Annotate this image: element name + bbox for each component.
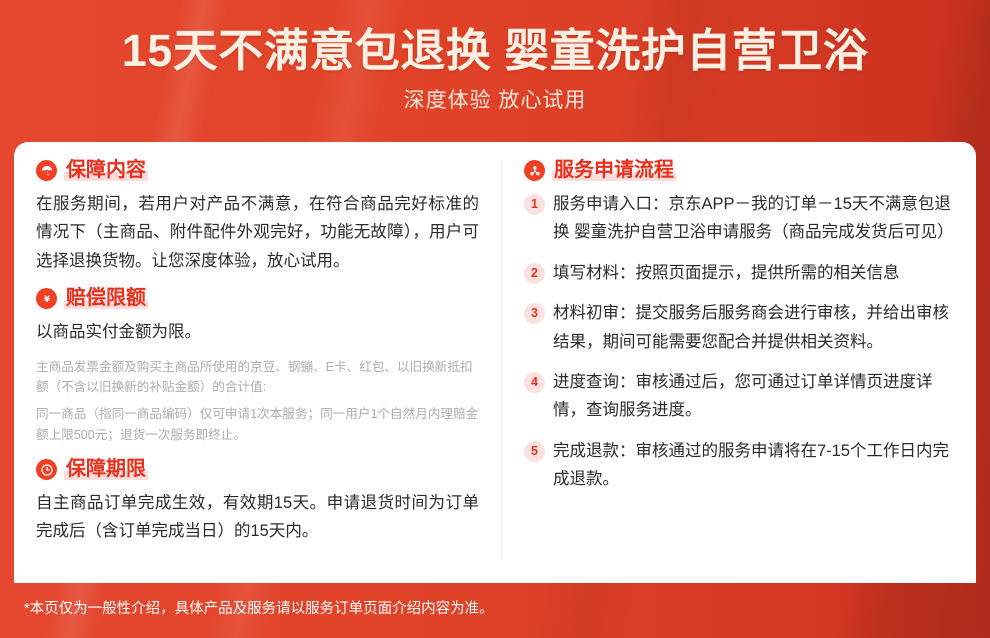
section-title: 服务申请流程 bbox=[552, 160, 676, 181]
step-text: 填写材料：按照页面提示，提供所需的相关信息 bbox=[553, 259, 960, 287]
step-text: 材料初审：提交服务后服务商会进行审核，并给出审核结果，期间可能需要您配合并提供相… bbox=[553, 299, 960, 356]
step-number-badge: 2 bbox=[524, 263, 545, 284]
section-title: 赔偿限额 bbox=[64, 288, 148, 309]
umbrella-icon bbox=[36, 160, 57, 181]
step-text: 进度查询：审核通过后，您可通过订单详情页进度详情，查询服务进度。 bbox=[553, 368, 960, 425]
process-step: 5 完成退款：审核通过的服务申请将在7-15个工作日内完成退款。 bbox=[524, 437, 960, 494]
compensation-paragraph: 以商品实付金额为限。 bbox=[36, 318, 479, 346]
step-number-badge: 5 bbox=[524, 441, 545, 462]
section-title-wrap: 赔偿限额 bbox=[64, 288, 148, 309]
step-text: 完成退款：审核通过的服务申请将在7-15个工作日内完成退款。 bbox=[553, 437, 960, 494]
clock-icon bbox=[36, 459, 57, 480]
section-title: 保障期限 bbox=[64, 459, 148, 480]
step-number-badge: 1 bbox=[524, 194, 545, 215]
section-title: 保障内容 bbox=[64, 160, 148, 181]
section-title-wrap: 保障期限 bbox=[64, 459, 148, 480]
page-subtitle: 深度体验 放心试用 bbox=[0, 77, 990, 113]
period-paragraph: 自主商品订单完成生效，有效期15天。申请退货时间为订单完成后（含订单完成当日）的… bbox=[36, 489, 479, 546]
section-heading-coverage: 保障内容 bbox=[36, 160, 479, 181]
banner-header: 15天不满意包退换 婴童洗护自营卫浴 深度体验 放心试用 bbox=[0, 0, 990, 142]
compensation-fineprint-1: 主商品发票金额及购买主商品所使用的京豆、钢镚、E卡、红包、以旧换新抵扣额（不含以… bbox=[36, 357, 479, 398]
process-step: 2 填写材料：按照页面提示，提供所需的相关信息 bbox=[524, 259, 960, 287]
coverage-paragraph: 在服务期间，若用户对产品不满意，在符合商品完好标准的情况下（主商品、附件配件外观… bbox=[36, 190, 479, 275]
yuan-icon: ¥ bbox=[36, 288, 57, 309]
section-heading-process: 服务申请流程 bbox=[524, 160, 960, 181]
page-title: 15天不满意包退换 婴童洗护自营卫浴 bbox=[0, 0, 990, 77]
process-step: 4 进度查询：审核通过后，您可通过订单详情页进度详情，查询服务进度。 bbox=[524, 368, 960, 425]
section-heading-compensation: ¥ 赔偿限额 bbox=[36, 288, 479, 309]
step-number-badge: 3 bbox=[524, 303, 545, 324]
promo-banner-page: 15天不满意包退换 婴童洗护自营卫浴 深度体验 放心试用 保障内容 在服务期间，… bbox=[0, 0, 990, 638]
svg-text:¥: ¥ bbox=[43, 295, 49, 305]
left-column: 保障内容 在服务期间，若用户对产品不满意，在符合商品完好标准的情况下（主商品、附… bbox=[14, 142, 501, 583]
section-title-wrap: 保障内容 bbox=[64, 160, 148, 181]
compensation-fineprint-2: 同一商品（指同一商品编码）仅可申请1次本服务；同一用户1个自然月内理赔金额上限5… bbox=[36, 404, 479, 445]
right-column: 服务申请流程 1 服务申请入口：京东APP－我的订单－15天不满意包退换 婴童洗… bbox=[502, 142, 976, 583]
section-title-wrap: 服务申请流程 bbox=[552, 160, 676, 181]
step-number-badge: 4 bbox=[524, 372, 545, 393]
content-card: 保障内容 在服务期间，若用户对产品不满意，在符合商品完好标准的情况下（主商品、附… bbox=[14, 142, 976, 583]
section-heading-period: 保障期限 bbox=[36, 459, 479, 480]
process-step: 1 服务申请入口：京东APP－我的订单－15天不满意包退换 婴童洗护自营卫浴申请… bbox=[524, 190, 960, 247]
process-step: 3 材料初审：提交服务后服务商会进行审核，并给出审核结果，期间可能需要您配合并提… bbox=[524, 299, 960, 356]
step-text: 服务申请入口：京东APP－我的订单－15天不满意包退换 婴童洗护自营卫浴申请服务… bbox=[553, 190, 960, 247]
footer-disclaimer: *本页仅为一般性介绍，具体产品及服务请以服务订单页面介绍内容为准。 bbox=[24, 600, 494, 619]
share-network-icon bbox=[524, 160, 545, 181]
